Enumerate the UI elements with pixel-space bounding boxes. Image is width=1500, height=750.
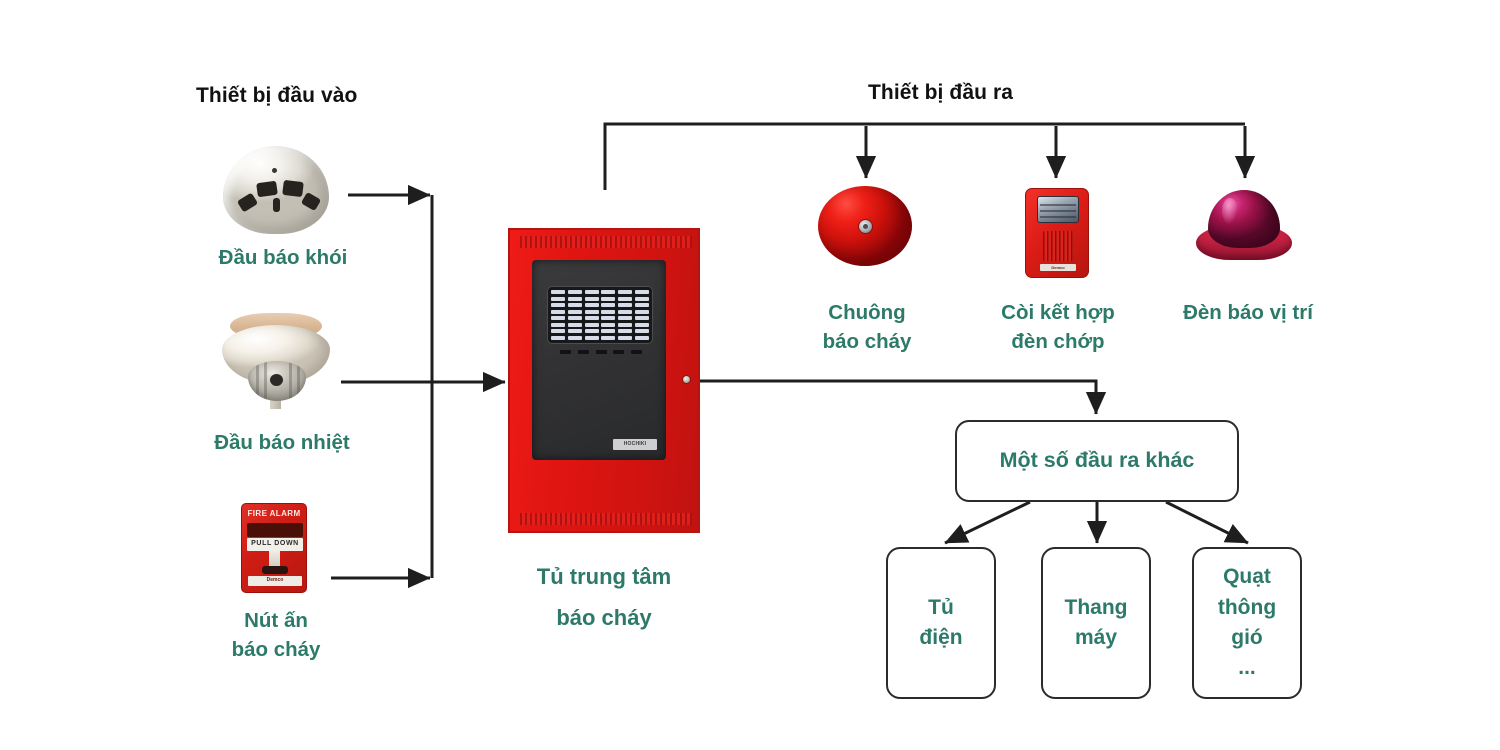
panel-brand-label: HOCHIKI — [613, 439, 657, 450]
panel-lock-icon[interactable] — [682, 375, 691, 384]
alarm-bell-label: Chuông báo cháy — [784, 298, 950, 356]
panel-button[interactable] — [560, 350, 571, 354]
electrical-cabinet-label: Tủ điện — [913, 593, 968, 654]
input-section-header: Thiết bị đầu vào — [196, 84, 357, 108]
panel-button[interactable] — [613, 350, 624, 354]
control-panel-label: Tủ trung tâm báo cháy — [488, 557, 720, 638]
other-outputs-group-box[interactable]: Một số đầu ra khác — [955, 420, 1239, 502]
fire-alarm-control-panel-icon: HOCHIKI — [508, 228, 700, 533]
location-indicator-lamp-icon — [1196, 190, 1294, 262]
manual-call-point-icon: FIRE ALARM PULL DOWN Demco — [241, 503, 307, 593]
smoke-detector-label: Đầu báo khói — [188, 243, 378, 272]
electrical-cabinet-box[interactable]: Tủ điện — [886, 547, 996, 699]
panel-button[interactable] — [578, 350, 589, 354]
pull-station-footer: Demco — [248, 577, 302, 583]
panel-button[interactable] — [631, 350, 642, 354]
heat-detector-label: Đầu báo nhiệt — [182, 428, 382, 457]
smoke-detector-icon — [217, 146, 335, 238]
ventilation-fan-label: Quạt thông gió ... — [1212, 562, 1282, 684]
panel-button-row[interactable] — [560, 350, 642, 354]
heat-detector-icon — [218, 311, 338, 411]
fire-alarm-system-diagram: Thiết bị đầu vào Thiết bị đầu ra Đầu báo… — [0, 0, 1500, 750]
sounder-strobe-icon: Demco — [1025, 188, 1089, 278]
panel-led-grid — [547, 286, 653, 344]
manual-call-point-label: Nút ấn báo cháy — [196, 606, 356, 664]
output-section-header: Thiết bị đầu ra — [868, 81, 1013, 105]
location-lamp-label: Đèn báo vị trí — [1158, 298, 1338, 327]
pull-station-title: FIRE ALARM — [242, 509, 306, 518]
panel-button[interactable] — [596, 350, 607, 354]
elevator-box[interactable]: Thang máy — [1041, 547, 1151, 699]
alarm-bell-icon — [818, 186, 914, 268]
ventilation-fan-box[interactable]: Quạt thông gió ... — [1192, 547, 1302, 699]
sounder-strobe-label: Còi kết hợp đèn chớp — [973, 298, 1143, 356]
elevator-label: Thang máy — [1059, 593, 1134, 654]
pull-station-instruction: PULL DOWN — [247, 540, 303, 547]
strobe-brand-label: Demco — [1040, 264, 1076, 271]
other-outputs-group-label: Một số đầu ra khác — [994, 445, 1201, 476]
